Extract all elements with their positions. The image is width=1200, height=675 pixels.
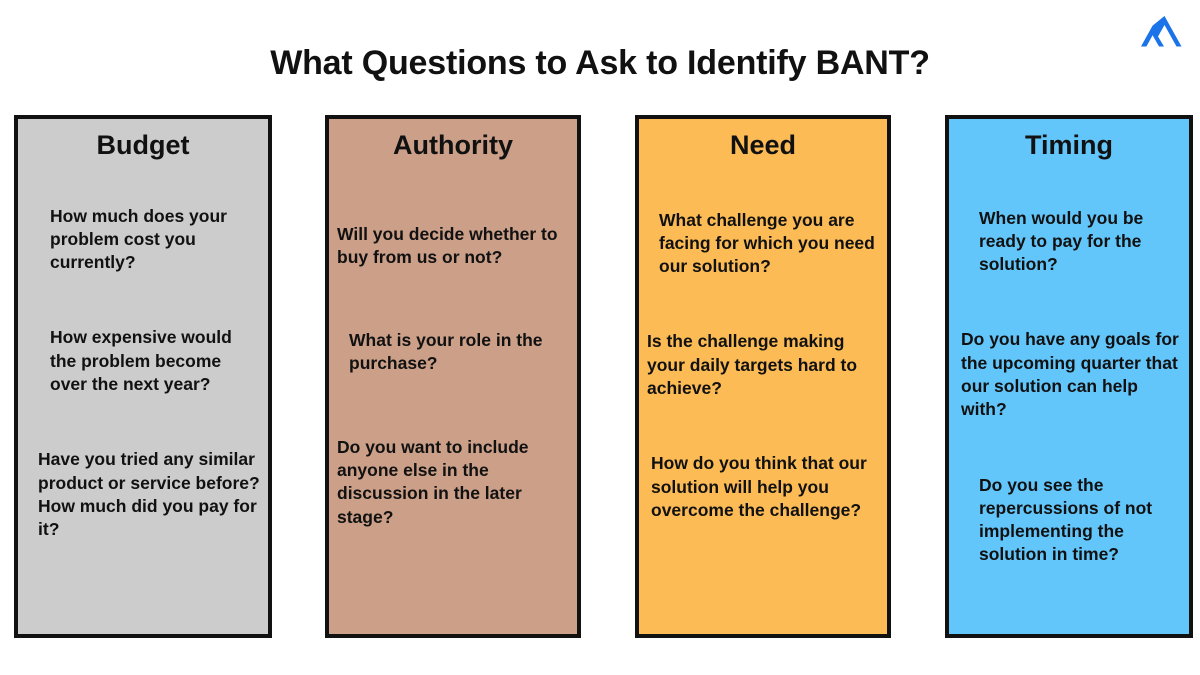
page-title: What Questions to Ask to Identify BANT? xyxy=(0,45,1200,82)
question-item: Will you decide whether to buy from us o… xyxy=(335,223,571,270)
column-title-budget: Budget xyxy=(18,131,268,161)
column-need: Need What challenge you are facing for w… xyxy=(635,115,891,638)
bant-columns: Budget How much does your problem cost y… xyxy=(0,115,1200,640)
question-item: How expensive would the problem become o… xyxy=(34,326,260,396)
question-item: How do you think that our solution will … xyxy=(645,452,883,522)
column-title-authority: Authority xyxy=(329,131,577,161)
column-title-need: Need xyxy=(639,131,887,161)
question-list-authority: Will you decide whether to buy from us o… xyxy=(329,223,577,529)
question-list-need: What challenge you are facing for which … xyxy=(639,209,887,522)
question-item: Have you tried any similar product or se… xyxy=(34,448,260,541)
slide-root: What Questions to Ask to Identify BANT? … xyxy=(0,0,1200,675)
question-item: Do you see the repercussions of not impl… xyxy=(955,474,1187,567)
column-timing: Timing When would you be ready to pay fo… xyxy=(945,115,1193,638)
question-list-budget: How much does your problem cost you curr… xyxy=(18,205,268,542)
column-budget: Budget How much does your problem cost y… xyxy=(14,115,272,638)
mountain-logo-icon xyxy=(1138,12,1184,56)
question-item: Do you have any goals for the upcoming q… xyxy=(955,328,1187,421)
column-authority: Authority Will you decide whether to buy… xyxy=(325,115,581,638)
question-item: What is your role in the purchase? xyxy=(335,329,571,376)
question-item: Do you want to include anyone else in th… xyxy=(335,436,571,529)
column-title-timing: Timing xyxy=(949,131,1189,161)
question-list-timing: When would you be ready to pay for the s… xyxy=(949,207,1189,567)
question-item: What challenge you are facing for which … xyxy=(645,209,883,279)
question-item: Is the challenge making your daily targe… xyxy=(645,330,883,400)
question-item: How much does your problem cost you curr… xyxy=(34,205,260,275)
question-item: When would you be ready to pay for the s… xyxy=(955,207,1187,277)
